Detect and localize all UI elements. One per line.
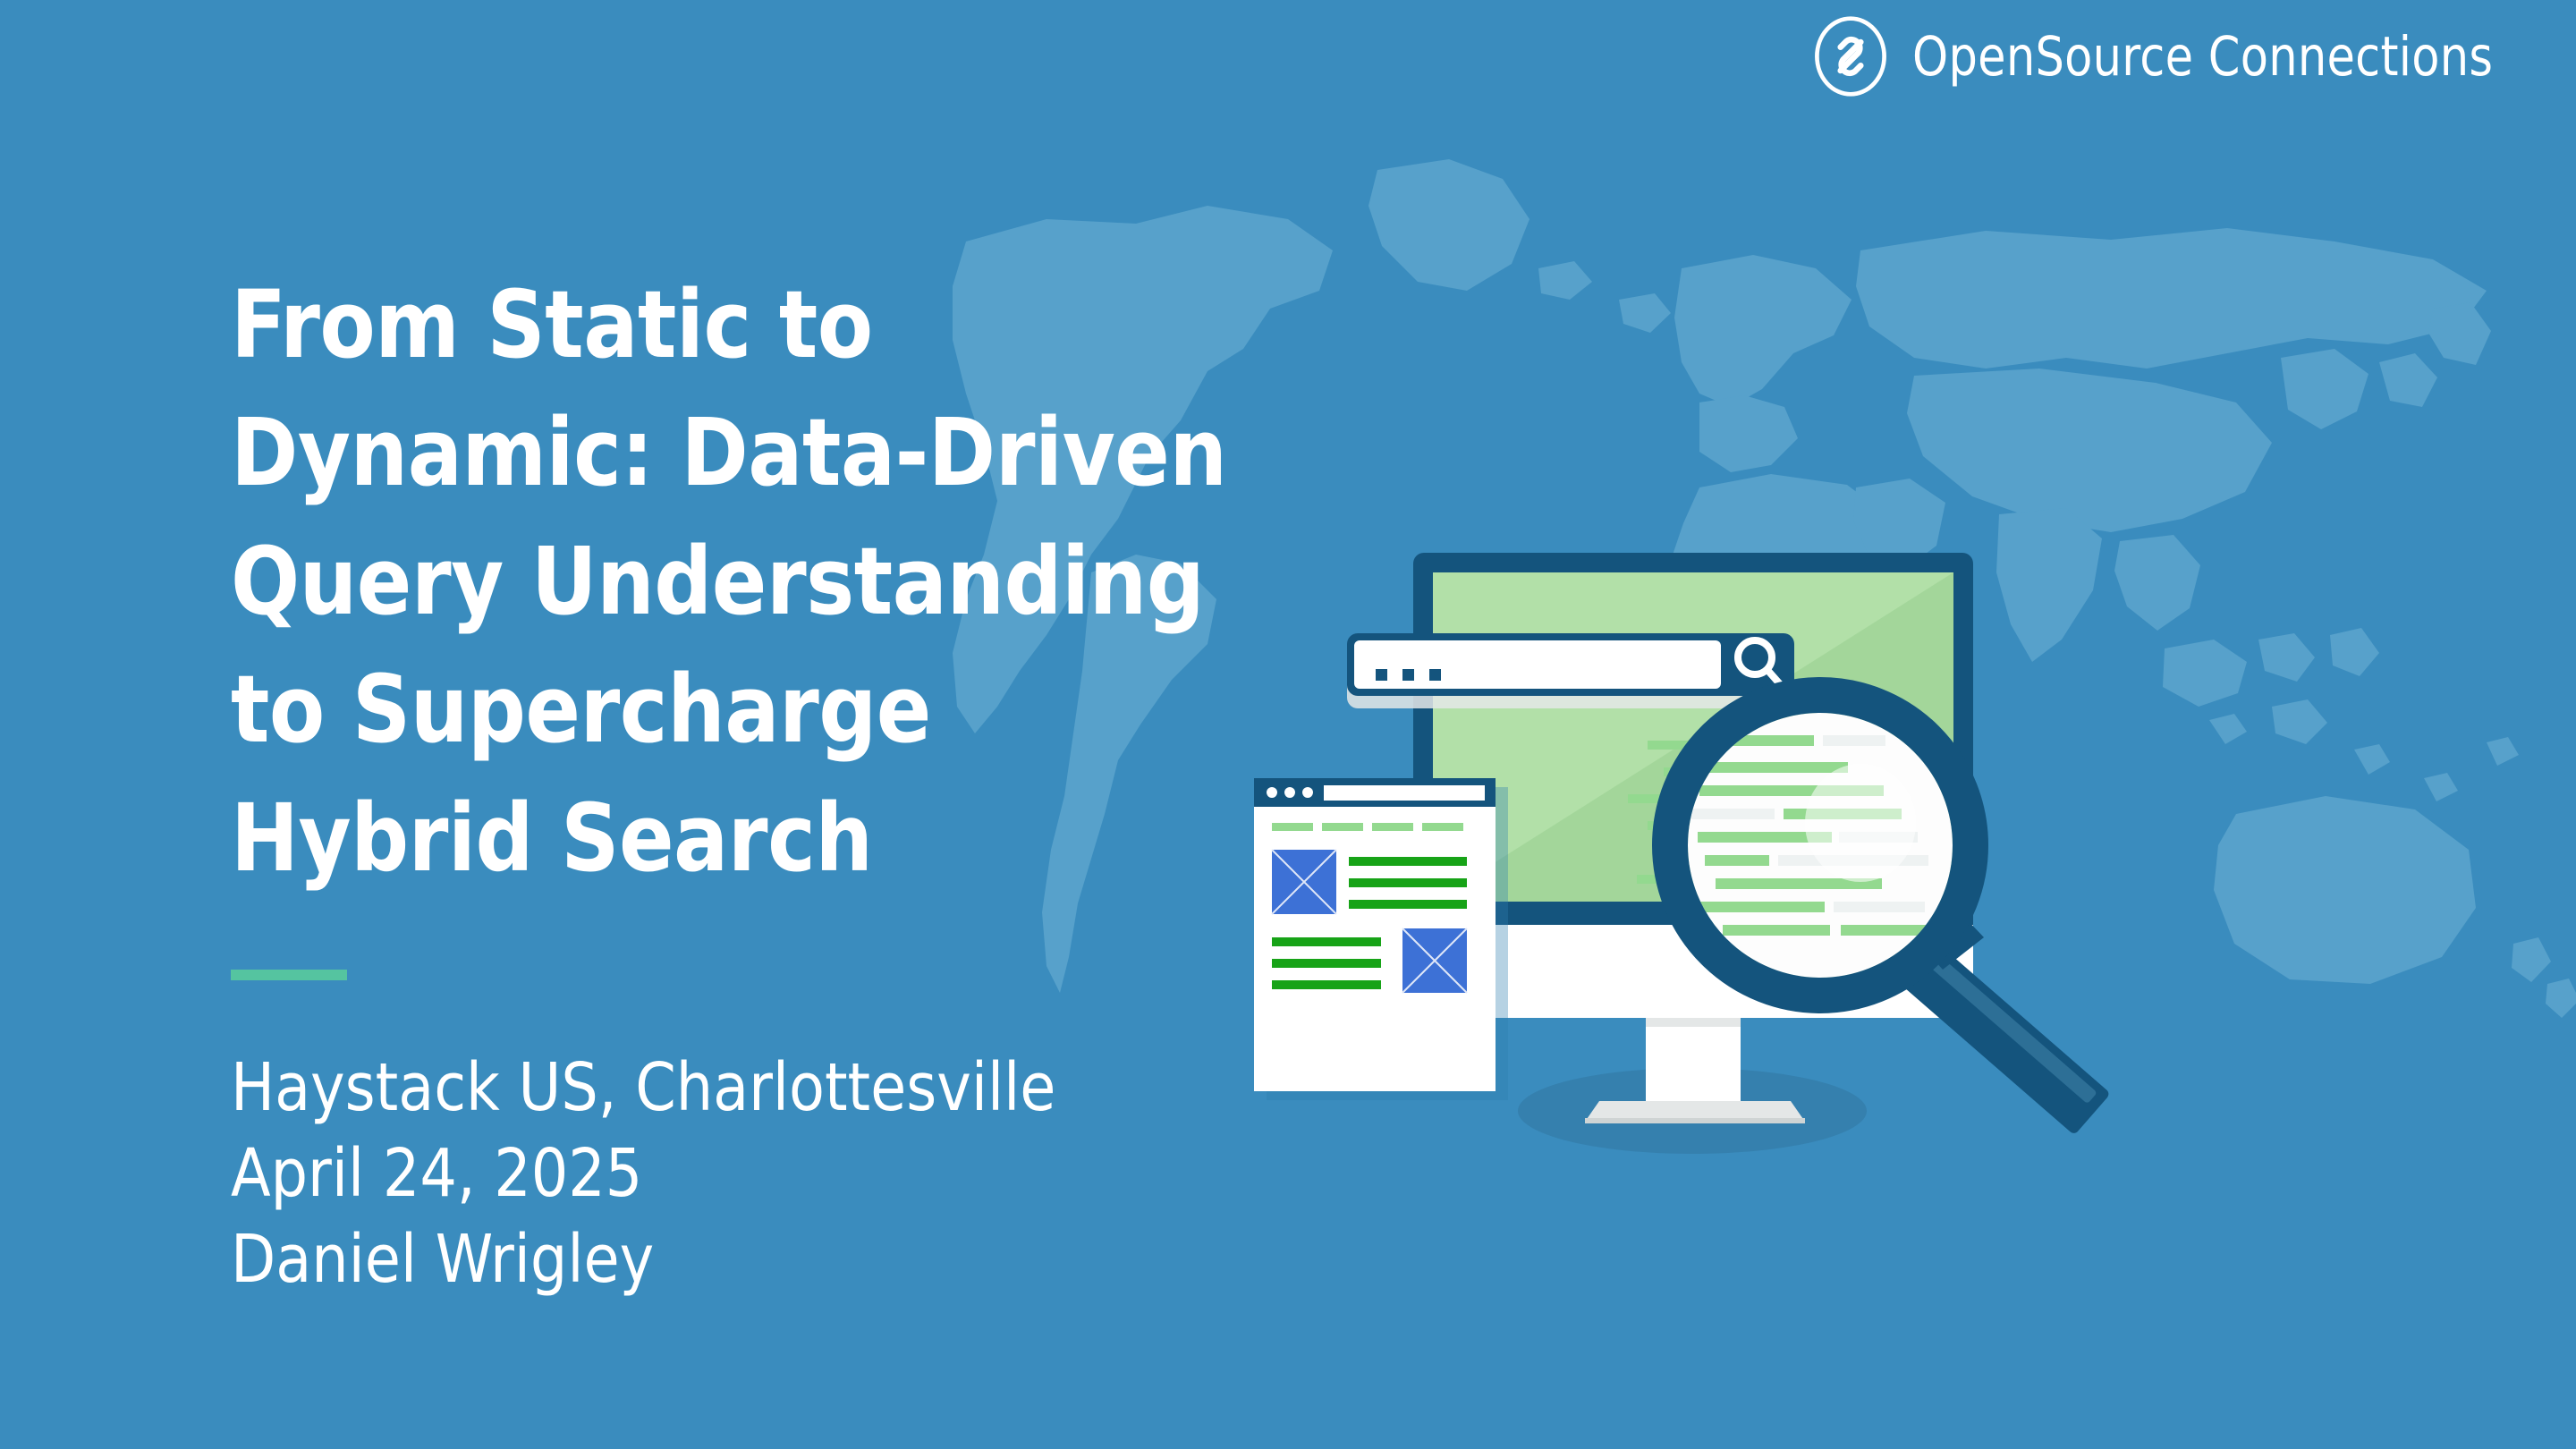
title-line-3: Query Understanding [231, 518, 1385, 647]
title-line-5: Hybrid Search [231, 775, 1385, 903]
browser-image-placeholder-2 [1402, 928, 1467, 993]
browser-address-bar [1324, 785, 1485, 801]
browser-titlebar-dots [1267, 787, 1313, 798]
lens-glare [1805, 764, 1916, 882]
slide-canvas: OpenSource Connections From Static to Dy… [0, 0, 2576, 1449]
title-line-1: From Static to [231, 261, 1385, 390]
title-line-2: Dynamic: Data-Driven [231, 389, 1385, 518]
title-line-4: to Supercharge [231, 646, 1385, 775]
monitor-stand-neck [1646, 1018, 1741, 1101]
browser-image-placeholder-1 [1272, 850, 1336, 914]
browser-text-lines-2 [1272, 937, 1381, 989]
browser-window-card [1254, 778, 1508, 1100]
search-placeholder-dots [1376, 669, 1441, 681]
brand-name: OpenSource Connections [1912, 25, 2493, 89]
search-illustration [1243, 528, 2156, 1172]
osc-circle-logo-icon [1809, 14, 1893, 98]
subtitle-speaker: Daniel Wrigley [231, 1216, 1055, 1302]
monitor-stand-neck-top [1646, 1018, 1741, 1027]
accent-divider [231, 970, 347, 980]
subtitle-block: Haystack US, Charlottesville April 24, 2… [231, 1045, 1055, 1303]
page-title: From Static to Dynamic: Data-Driven Quer… [231, 261, 1385, 903]
brand-lockup: OpenSource Connections [1809, 14, 2537, 98]
subtitle-date: April 24, 2025 [231, 1131, 1055, 1216]
monitor-stand-base-front [1585, 1118, 1805, 1123]
subtitle-event: Haystack US, Charlottesville [231, 1045, 1055, 1131]
browser-text-lines-1 [1349, 857, 1467, 909]
search-bar [1347, 633, 1794, 708]
search-bar-input [1354, 640, 1721, 689]
